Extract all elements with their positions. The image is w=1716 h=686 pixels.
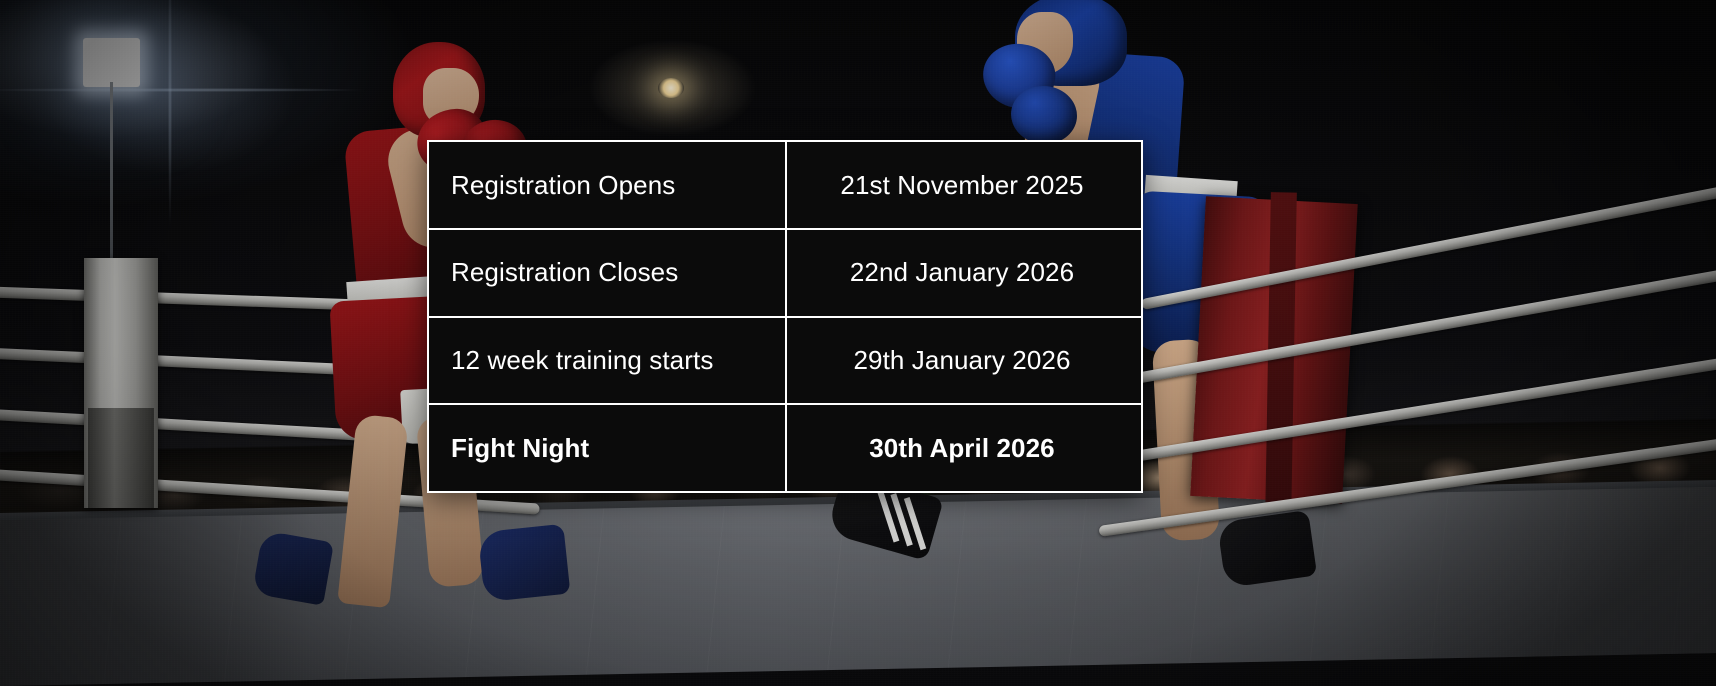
- table-row: 12 week training starts 29th January 202…: [429, 318, 1141, 406]
- schedule-label: 12 week training starts: [429, 318, 787, 404]
- ceiling-bulb-icon: [658, 78, 684, 98]
- schedule-date: 29th January 2026: [787, 318, 1141, 404]
- schedule-date: 22nd January 2026: [787, 230, 1141, 316]
- red-boxer-boot-back: [252, 530, 334, 606]
- blue-boxer-boot-standing: [1217, 510, 1317, 588]
- spotlight-fixture-icon: [83, 38, 140, 87]
- table-row: Fight Night 30th April 2026: [429, 405, 1141, 491]
- red-boxer-boot-front: [478, 524, 571, 603]
- table-row: Registration Closes 22nd January 2026: [429, 230, 1141, 318]
- table-row: Registration Opens 21st November 2025: [429, 142, 1141, 230]
- schedule-date: 21st November 2025: [787, 142, 1141, 228]
- schedule-label: Registration Closes: [429, 230, 787, 316]
- page-stage: Registration Opens 21st November 2025 Re…: [0, 0, 1716, 686]
- schedule-date: 30th April 2026: [787, 405, 1141, 491]
- schedule-label: Fight Night: [429, 405, 787, 491]
- schedule-label: Registration Opens: [429, 142, 787, 228]
- spotlight-pole: [110, 82, 113, 282]
- event-schedule-table: Registration Opens 21st November 2025 Re…: [427, 140, 1143, 493]
- ring-corner-post-left: [84, 258, 158, 508]
- red-boxer-leg-back: [337, 414, 409, 608]
